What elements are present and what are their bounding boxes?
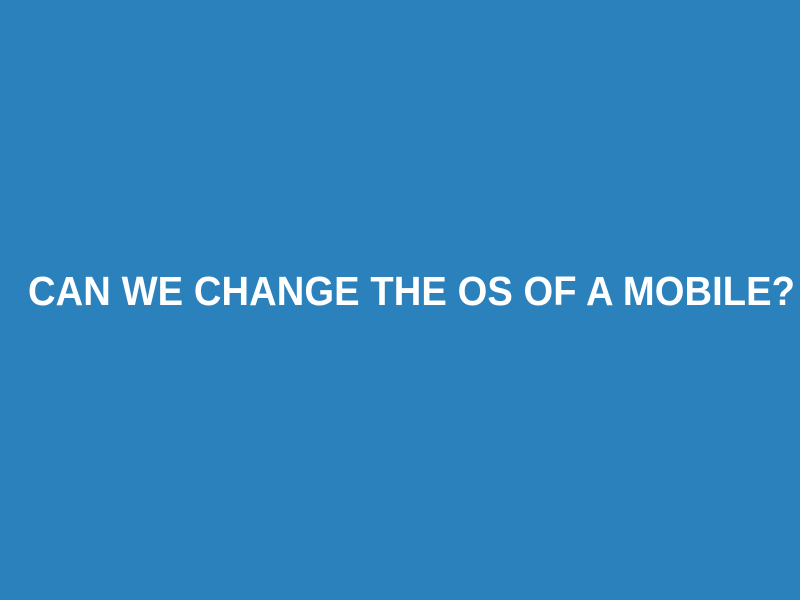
- banner-card: CAN WE CHANGE THE OS OF A MOBILE?: [0, 0, 800, 600]
- headline-container: CAN WE CHANGE THE OS OF A MOBILE?: [0, 270, 800, 313]
- page-title: CAN WE CHANGE THE OS OF A MOBILE?: [28, 270, 772, 313]
